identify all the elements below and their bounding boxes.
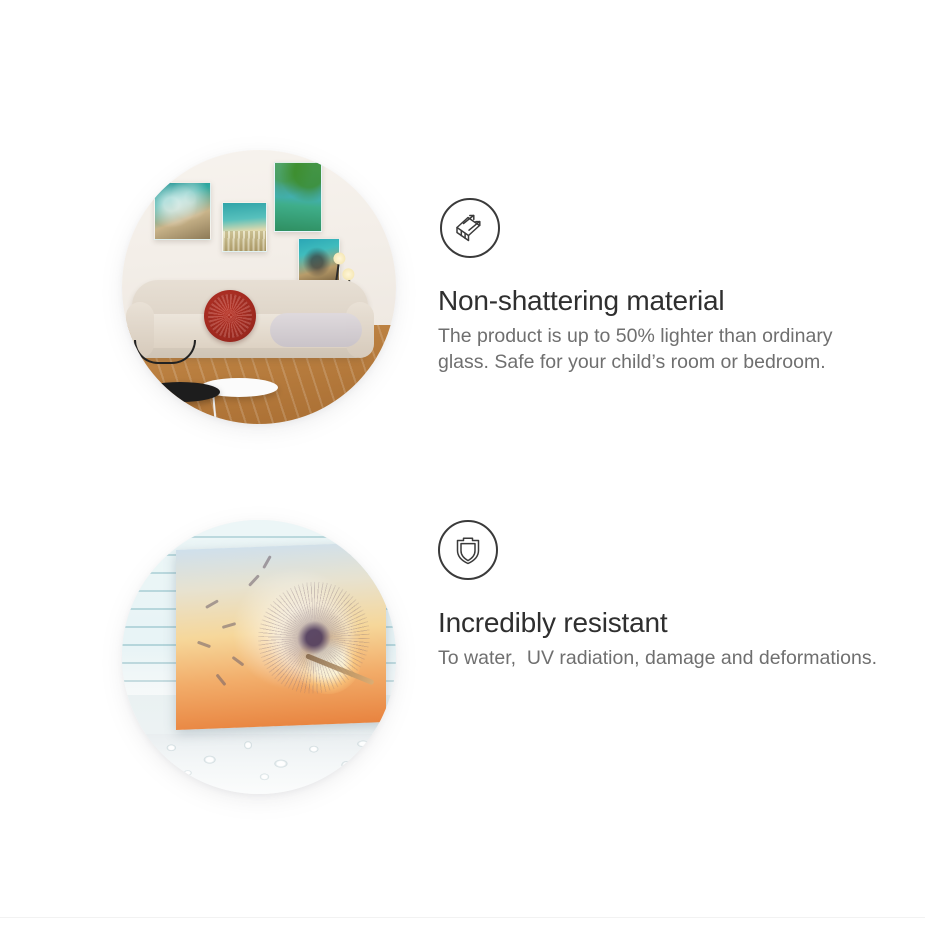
wall-art-palm-lagoon	[274, 162, 322, 232]
product-feature-page: Non-shattering material The product is u…	[0, 0, 925, 927]
dandelion-seed	[222, 622, 236, 629]
dandelion-seed	[206, 599, 220, 609]
dandelion-seed	[215, 673, 226, 686]
wall-art-ocean-waves	[154, 182, 211, 240]
dandelion-seed	[197, 640, 211, 648]
flexible-panel-arrows-icon	[440, 198, 500, 258]
wall-art-beach-shore	[222, 202, 267, 252]
dandelion-seed	[262, 556, 272, 570]
feature-description: To water, UV radiation, damage and defor…	[438, 646, 888, 672]
photo-scene-living-room	[122, 150, 396, 424]
feature-description: The product is up to 50% lighter than or…	[438, 324, 888, 376]
shield-icon	[438, 520, 498, 580]
feature-title: Non-shattering material	[438, 284, 888, 317]
bottom-divider	[0, 917, 925, 918]
throw-blanket	[270, 313, 362, 347]
dandelion-seed	[248, 575, 260, 587]
feature-text-column: Incredibly resistant To water, UV radiat…	[438, 520, 888, 672]
red-round-cushion	[204, 290, 256, 342]
black-nesting-table	[140, 382, 220, 402]
living-room-gallery-wall-photo	[122, 150, 396, 424]
feature-text-column: Non-shattering material The product is u…	[438, 198, 888, 376]
feature-title: Incredibly resistant	[438, 606, 888, 639]
water-droplets	[122, 728, 396, 794]
photo-scene-dandelion	[122, 520, 396, 794]
glass-print-panel	[176, 542, 386, 730]
dandelion-sunset-print-photo	[122, 520, 396, 794]
dandelion-seed	[231, 655, 244, 666]
